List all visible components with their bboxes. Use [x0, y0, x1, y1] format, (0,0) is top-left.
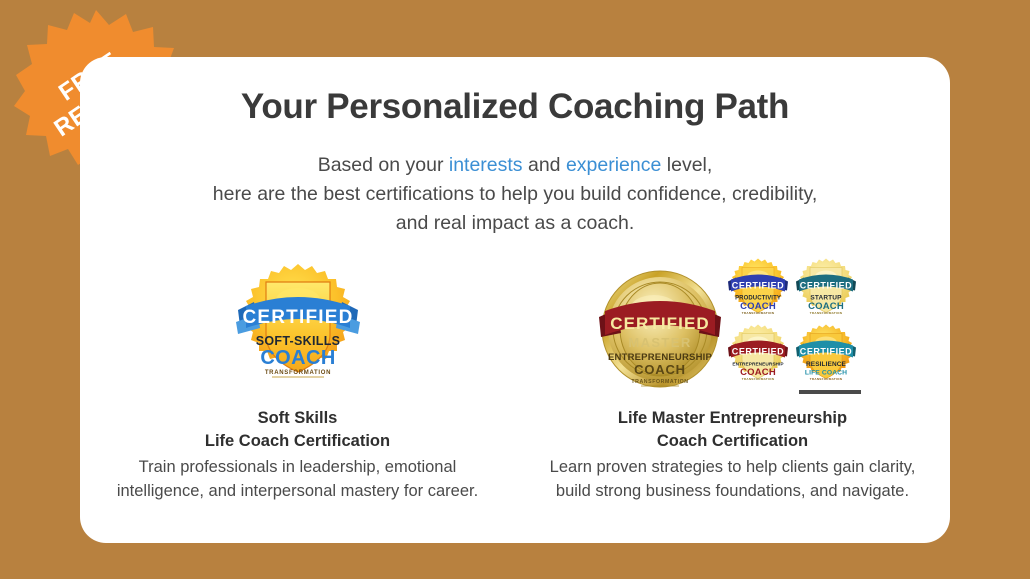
- seal-line1: SOFT-SKILLS: [255, 334, 340, 348]
- entrepreneurship-coach-seal: CERTIFIED ENTREPRENEURSHIP COACH TRANSFO…: [725, 323, 791, 389]
- seal-line2: COACH: [808, 301, 844, 312]
- seal-footer: TRANSFORMATION: [741, 311, 773, 315]
- ribbon-label: CERTIFIED: [731, 347, 783, 357]
- soft-skills-title: Soft Skills Life Coach Certification: [205, 407, 390, 453]
- subtitle-line-1: Based on your interests and experience l…: [80, 151, 950, 180]
- master-entrepreneurship-description: Learn proven strategies to help clients …: [533, 455, 933, 503]
- soft-skills-desc-line2: intelligence, and interpersonal mastery …: [98, 479, 498, 503]
- productivity-coach-seal: CERTIFIED PRODUCTIVITY COACH TRANSFORMAT…: [725, 257, 791, 323]
- subtitle: Based on your interests and experience l…: [80, 151, 950, 238]
- seal-footer: TRANSFORMATION: [264, 370, 330, 376]
- certification-card-master-entrepreneurship[interactable]: CERTIFIED MASTER ENTREPRENEURSHIP COACH …: [515, 253, 950, 503]
- interests-link[interactable]: interests: [449, 154, 523, 176]
- seal-line1: RESILIENCE: [805, 361, 846, 368]
- page-title: Your Personalized Coaching Path: [80, 87, 950, 127]
- ribbon-label: CERTIFIED: [799, 281, 851, 291]
- master-entrepreneurship-title: Life Master Entrepreneurship Coach Certi…: [618, 407, 847, 453]
- soft-skills-desc-line1: Train professionals in leadership, emoti…: [98, 455, 498, 479]
- experience-link[interactable]: experience: [566, 154, 661, 176]
- master-title-line1: Life Master Entrepreneurship: [618, 407, 847, 430]
- seal-line2: COACH: [260, 347, 335, 369]
- master-badge-area: CERTIFIED MASTER ENTREPRENEURSHIP COACH …: [597, 253, 869, 401]
- subtitle-prefix: Based on your: [318, 154, 449, 176]
- soft-skills-description: Train professionals in leadership, emoti…: [98, 455, 498, 503]
- seal-line3: COACH: [634, 362, 686, 377]
- ribbon-label: CERTIFIED: [799, 347, 851, 357]
- subtitle-line-2: here are the best certifications to help…: [80, 180, 950, 209]
- seal-footer: TRANSFORMATION: [631, 379, 688, 385]
- master-desc-line1: Learn proven strategies to help clients …: [533, 455, 933, 479]
- subtitle-suffix: level,: [661, 154, 712, 176]
- master-entrepreneurship-coach-seal: CERTIFIED MASTER ENTREPRENEURSHIP COACH …: [597, 265, 723, 397]
- master-desc-line2: build strong business foundations, and n…: [533, 479, 933, 503]
- ribbon-label: CERTIFIED: [731, 281, 783, 291]
- seal-footer: TRANSFORMATION: [809, 377, 841, 381]
- result-card: Your Personalized Coaching Path Based on…: [80, 57, 950, 543]
- badge-cluster: CERTIFIED MASTER ENTREPRENEURSHIP COACH …: [597, 257, 869, 397]
- seal-line2: LIFE COACH: [804, 370, 846, 377]
- subtitle-mid: and: [523, 154, 566, 176]
- soft-skills-title-line1: Soft Skills: [205, 407, 390, 430]
- seal-footer: TRANSFORMATION: [741, 377, 773, 381]
- seal-line1: STARTUP: [810, 295, 842, 302]
- soft-skills-coach-seal: CERTIFIED SOFT-SKILLS COACH TRANSFORMATI…: [232, 262, 364, 392]
- seal-line2: COACH: [740, 367, 776, 378]
- certification-card-soft-skills[interactable]: CERTIFIED SOFT-SKILLS COACH TRANSFORMATI…: [80, 253, 515, 503]
- master-title-line2: Coach Certification: [618, 430, 847, 453]
- soft-skills-badge-area: CERTIFIED SOFT-SKILLS COACH TRANSFORMATI…: [232, 253, 364, 401]
- subtitle-line-3: and real impact as a coach.: [80, 209, 950, 238]
- cluster-underline: [799, 390, 861, 394]
- seal-line1: MASTER: [628, 335, 691, 350]
- certifications-row: CERTIFIED SOFT-SKILLS COACH TRANSFORMATI…: [80, 253, 950, 503]
- resilience-life-coach-seal: CERTIFIED RESILIENCE LIFE COACH TRANSFOR…: [793, 323, 859, 389]
- startup-coach-seal: CERTIFIED STARTUP COACH TRANSFORMATION: [793, 257, 859, 323]
- soft-skills-title-line2: Life Coach Certification: [205, 430, 390, 453]
- seal-line2: COACH: [740, 301, 776, 312]
- ribbon-label: CERTIFIED: [242, 307, 353, 328]
- seal-footer: TRANSFORMATION: [809, 311, 841, 315]
- ribbon-label: CERTIFIED: [610, 314, 710, 333]
